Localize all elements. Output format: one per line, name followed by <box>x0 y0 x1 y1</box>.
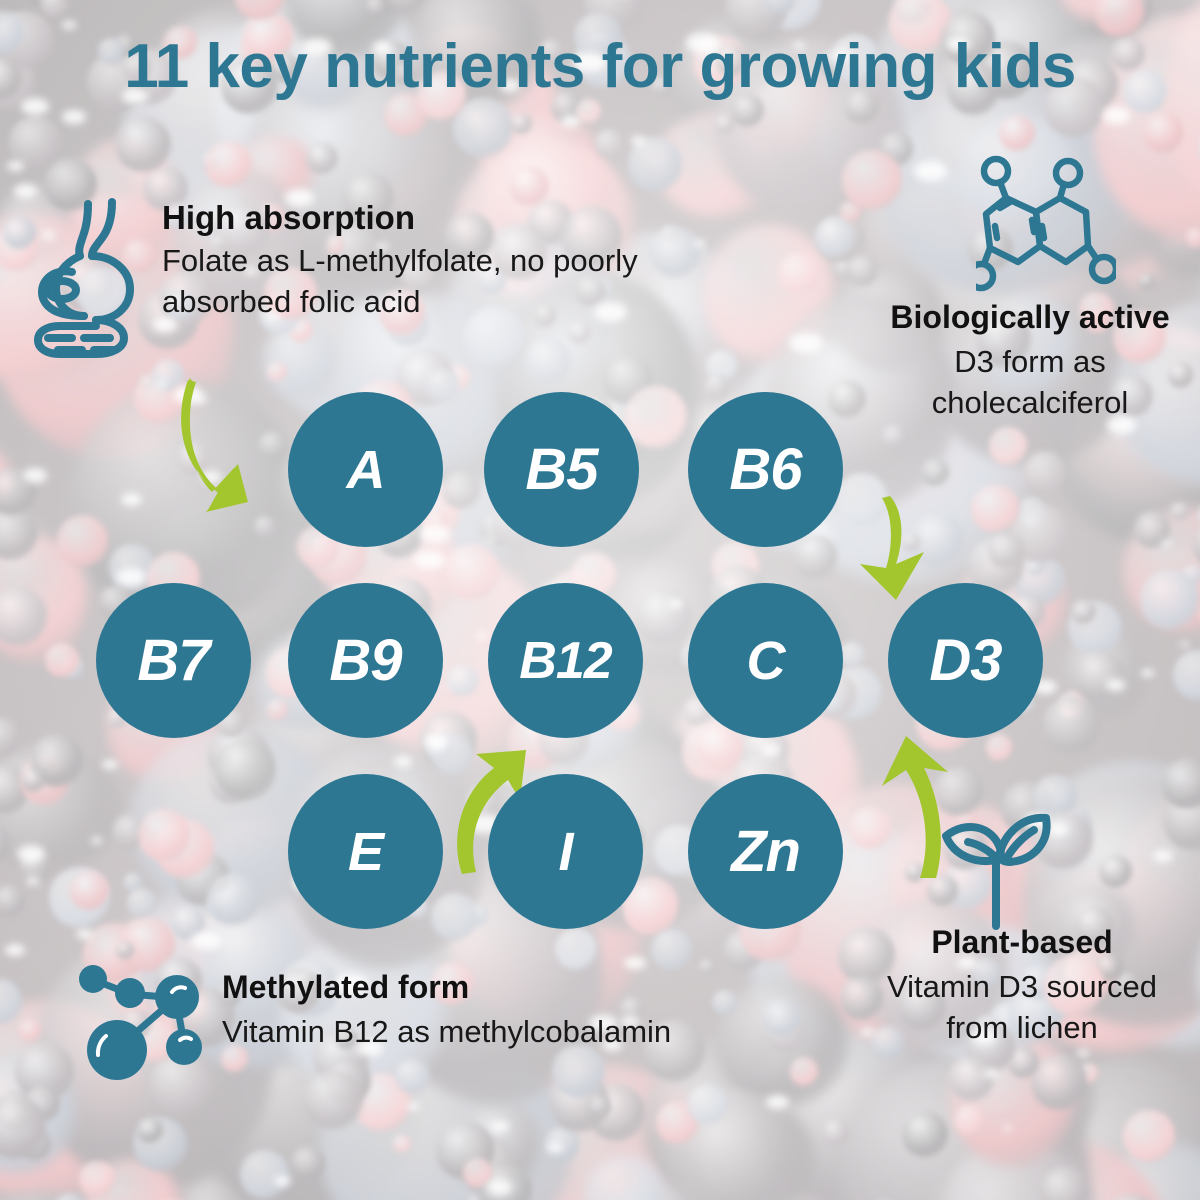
callout-heading: High absorption <box>162 200 722 237</box>
callout-biologically-active: Biologically active D3 form as cholecalc… <box>880 300 1180 424</box>
nutrient-label: B5 <box>525 436 597 503</box>
arrow-to-d3-bottom <box>862 730 974 885</box>
nutrient-circle-b6[interactable]: B6 <box>688 392 843 547</box>
nutrient-circle-i[interactable]: I <box>488 774 643 929</box>
nutrient-label: B7 <box>137 627 209 694</box>
nutrient-circle-d3[interactable]: D3 <box>888 583 1043 738</box>
nutrient-label: I <box>558 821 572 883</box>
nutrient-label: A <box>347 439 385 501</box>
nutrient-label: B6 <box>729 436 801 503</box>
nutrient-circle-c[interactable]: C <box>688 583 843 738</box>
nutrient-label: E <box>348 821 383 883</box>
nutrient-circle-a[interactable]: A <box>288 392 443 547</box>
stomach-intestine-icon <box>26 192 154 365</box>
callout-body: D3 form as cholecalciferol <box>880 342 1180 424</box>
callout-body: Folate as L-methylfolate, no poorly abso… <box>162 241 722 323</box>
nutrient-circle-e[interactable]: E <box>288 774 443 929</box>
nutrient-label: B9 <box>329 627 401 694</box>
callout-plant-based: Plant-based Vitamin D3 sourced from lich… <box>862 925 1182 1049</box>
callout-heading: Methylated form <box>222 970 782 1006</box>
molecule-rings-icon <box>976 146 1116 297</box>
nutrient-label: C <box>747 630 785 692</box>
nutrient-label: B12 <box>519 631 611 691</box>
page-title: 11 key nutrients for growing kids <box>0 34 1200 99</box>
nutrient-label: D3 <box>929 627 1001 694</box>
nutrient-circle-b7[interactable]: B7 <box>96 583 251 738</box>
callout-heading: Plant-based <box>862 925 1182 961</box>
nutrient-circle-b5[interactable]: B5 <box>484 392 639 547</box>
nutrient-circle-b12[interactable]: B12 <box>488 583 643 738</box>
nutrient-label: Zn <box>731 818 800 885</box>
molecule-network-icon <box>72 962 208 1087</box>
nutrient-circle-b9[interactable]: B9 <box>288 583 443 738</box>
callout-heading: Biologically active <box>880 300 1180 336</box>
callout-body: Vitamin D3 sourced from lichen <box>862 967 1182 1049</box>
callout-high-absorption: High absorption Folate as L-methylfolate… <box>162 200 722 323</box>
callout-body: Vitamin B12 as methylcobalamin <box>222 1012 782 1053</box>
callout-methylated-form: Methylated form Vitamin B12 as methylcob… <box>222 970 782 1053</box>
arrow-to-vitamin-a <box>172 372 294 525</box>
nutrient-circle-zn[interactable]: Zn <box>688 774 843 929</box>
